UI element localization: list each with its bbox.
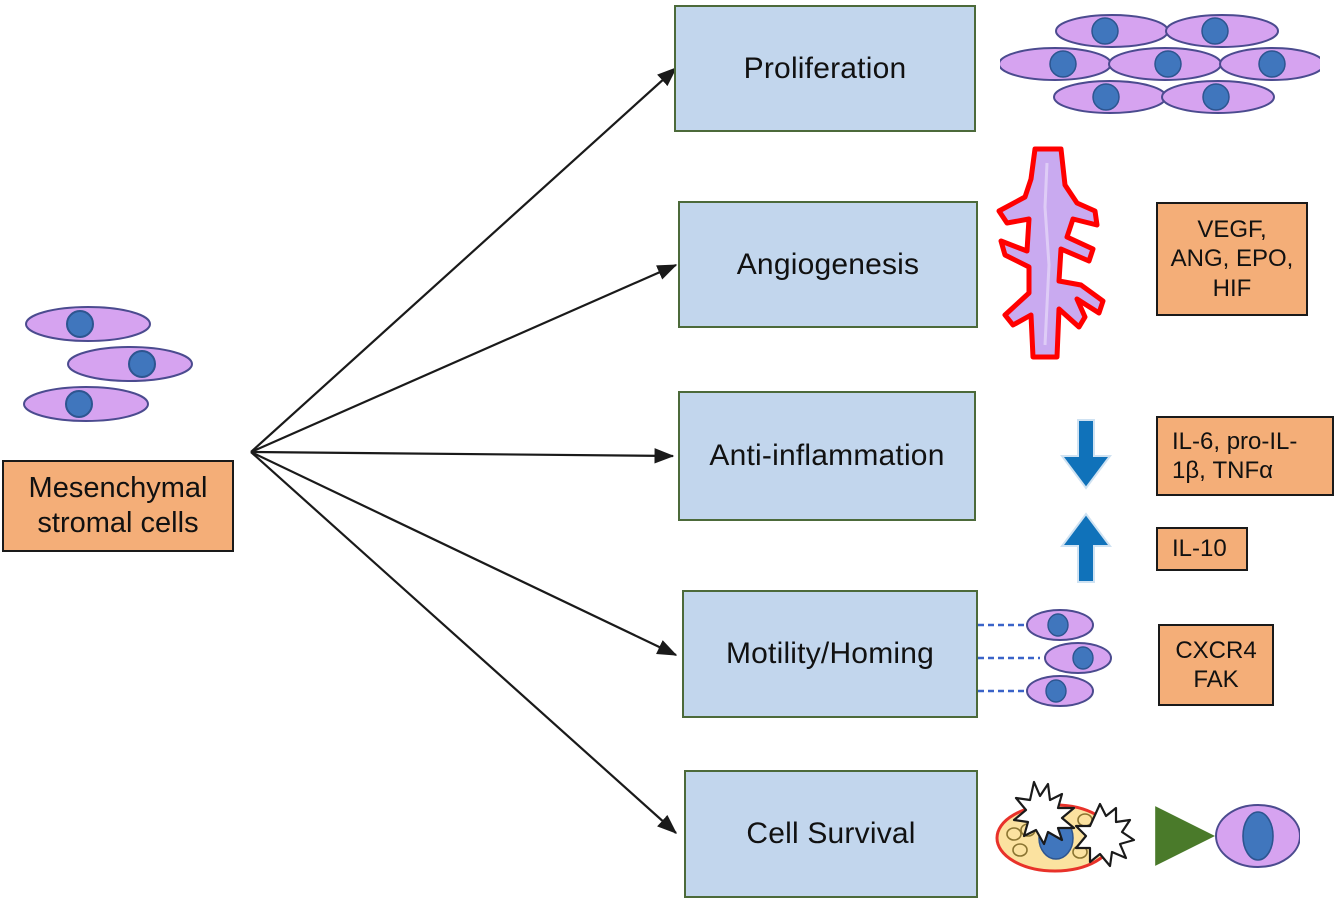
process-label-cell-survival: Cell Survival [746,817,915,851]
arrow-up-icon [1058,512,1114,584]
damaged-to-healthy-cell-icon [990,778,1300,896]
factor-box-downregulated-cytokines[interactable]: IL-6, pro-IL- 1β, TNFα [1156,416,1334,496]
arrow-down-icon [1058,418,1114,490]
connector-arrow-layer [0,0,1334,903]
source-label-line2: stromal cells [29,506,208,541]
source-label-line1: Mesenchymal [29,471,208,506]
migrating-cells-with-trails-icon [978,608,1128,708]
proliferating-cell-cluster-icon [1000,8,1320,120]
factor-box-upregulated-cytokines[interactable]: IL-10 [1156,527,1248,571]
factor-line: HIF [1171,274,1294,303]
factor-box-homing-molecules[interactable]: CXCR4 FAK [1158,624,1274,706]
process-box-angiogenesis[interactable]: Angiogenesis [678,201,978,328]
factor-line: 1β, TNFα [1172,456,1297,485]
factor-line: IL-6, pro-IL- [1172,427,1297,456]
process-box-proliferation[interactable]: Proliferation [674,5,976,132]
factor-line: VEGF, [1171,215,1294,244]
branching-blood-vessel-icon [985,145,1115,360]
factor-line: FAK [1175,665,1256,694]
process-label-angiogenesis: Angiogenesis [737,248,920,282]
process-label-anti-inflammation: Anti-inflammation [709,439,944,473]
source-box-mesenchymal-stromal-cells[interactable]: Mesenchymal stromal cells [2,460,234,552]
process-box-cell-survival[interactable]: Cell Survival [684,770,978,898]
factor-line: IL-10 [1172,534,1227,563]
process-box-anti-inflammation[interactable]: Anti-inflammation [678,391,976,521]
process-label-proliferation: Proliferation [744,52,907,86]
factor-line: ANG, EPO, [1171,244,1294,273]
msc-cell-cluster-icon [14,300,204,430]
factor-line: CXCR4 [1175,636,1256,665]
process-label-motility-homing: Motility/Homing [726,637,934,671]
process-box-motility-homing[interactable]: Motility/Homing [682,590,978,718]
factor-box-angiogenesis-factors[interactable]: VEGF, ANG, EPO, HIF [1156,202,1308,316]
diagram-canvas: Mesenchymal stromal cells Proliferation [0,0,1334,903]
